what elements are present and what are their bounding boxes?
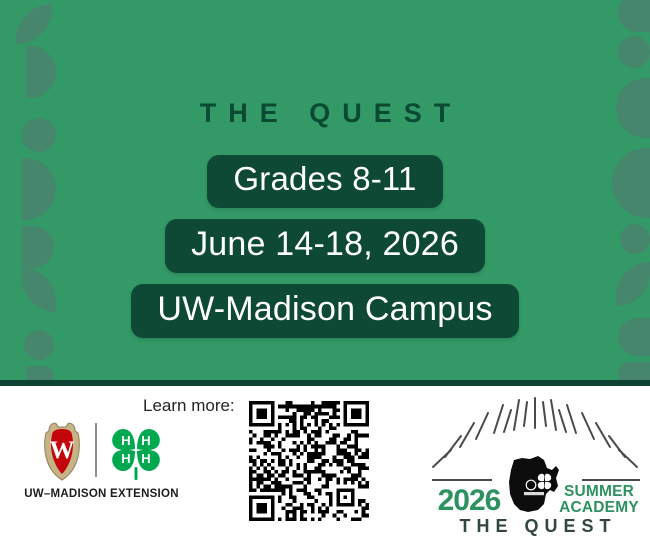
footer-bar: W H H <box>0 386 650 544</box>
badge-quest-label: THE QUEST <box>424 516 646 537</box>
badge-name: SUMMER ACADEMY <box>554 484 644 516</box>
svg-text:H: H <box>141 433 150 448</box>
page-subtitle: THE QUEST <box>0 98 650 129</box>
badge-name-line2: ACADEMY <box>554 500 644 516</box>
detail-pill-location: UW-Madison Campus <box>131 284 518 338</box>
badge-year: 2026 <box>430 484 508 518</box>
detail-pill-grades: Grades 8-11 <box>207 155 442 208</box>
summer-academy-poster: SUMMER ACADEMY THE QUEST Grades 8-11 Jun… <box>0 0 650 544</box>
svg-text:H: H <box>121 451 130 466</box>
lockup-label: UW–MADISON EXTENSION <box>14 488 189 500</box>
green-hero-panel: SUMMER ACADEMY THE QUEST Grades 8-11 Jun… <box>0 0 650 386</box>
detail-pill-dates: June 14-18, 2026 <box>165 219 485 273</box>
qr-code-icon[interactable] <box>249 401 369 521</box>
page-title: SUMMER ACADEMY <box>0 10 650 110</box>
uw-extension-lockup: W H H <box>14 416 189 500</box>
badge-name-line1: SUMMER <box>554 484 644 500</box>
lockup-divider <box>95 423 97 477</box>
uw-madison-crest-icon: W <box>39 419 85 481</box>
svg-text:H: H <box>141 451 150 466</box>
detail-pill-list: Grades 8-11 June 14-18, 2026 UW-Madison … <box>0 155 650 338</box>
summer-academy-badge: 2026 SUMMER ACADEMY THE QUEST <box>424 396 646 542</box>
svg-text:W: W <box>49 437 74 464</box>
svg-text:H: H <box>121 433 130 448</box>
learn-more-label: Learn more: <box>143 396 235 416</box>
four-h-clover-icon: H H H H <box>107 419 165 481</box>
